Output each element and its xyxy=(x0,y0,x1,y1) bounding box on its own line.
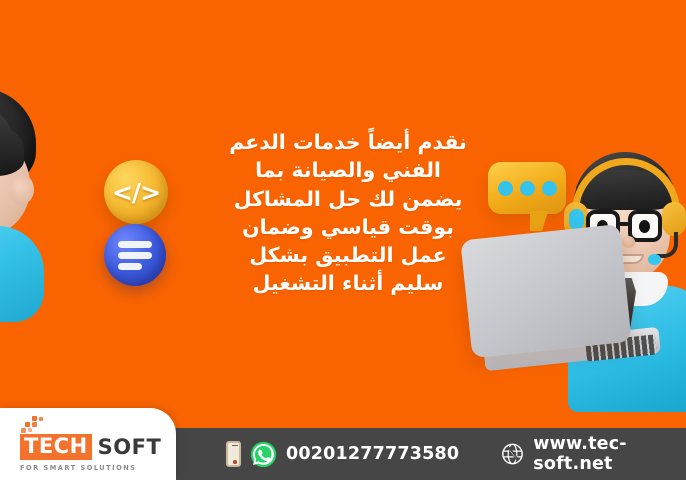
brand-logo[interactable]: TECH SOFT FOR SMART SOLUTIONS xyxy=(20,418,168,472)
torso-shape xyxy=(0,226,44,322)
banner-canvas: </> نقدم أيضاً خدمات الدعم الفني والصيان… xyxy=(0,0,686,480)
contact-phone[interactable]: 00201277773580 xyxy=(226,441,459,468)
bubble-dot xyxy=(520,181,535,196)
ear-shape xyxy=(10,174,34,204)
chat-bubble-icon xyxy=(488,162,566,214)
laptop-icon xyxy=(460,224,631,358)
headset-mic-tip-icon xyxy=(648,254,661,265)
headset-earcup-right-icon xyxy=(662,202,686,236)
brand-name-secondary: SOFT xyxy=(98,436,162,459)
globe-icon xyxy=(501,441,524,467)
footer-contacts: 00201277773580 www.tec-soft.net xyxy=(226,428,686,480)
mobile-phone-icon xyxy=(226,441,241,467)
headset-mic-arm-icon xyxy=(656,232,678,258)
pixel-squares-icon xyxy=(21,416,51,434)
headline-text: نقدم أيضاً خدمات الدعم الفني والصيانة بم… xyxy=(228,128,468,298)
brand-tagline: FOR SMART SOLUTIONS xyxy=(20,464,168,472)
nose-shape xyxy=(622,236,635,248)
website-url-text[interactable]: www.tec-soft.net xyxy=(533,434,686,474)
whatsapp-icon[interactable] xyxy=(250,441,277,468)
support-agent-character xyxy=(456,150,686,412)
bubble-dot xyxy=(542,181,557,196)
eyeglass-bridge xyxy=(619,222,629,226)
brand-name-primary: TECH xyxy=(20,434,92,460)
line-bar xyxy=(118,241,152,248)
line-bar xyxy=(118,252,152,259)
phone-number-text[interactable]: 00201277773580 xyxy=(286,444,459,464)
code-glyph: </> xyxy=(112,180,160,205)
brand-name-row: TECH SOFT xyxy=(20,434,168,460)
logo-panel[interactable]: TECH SOFT FOR SMART SOLUTIONS xyxy=(0,408,176,480)
contact-website[interactable]: www.tec-soft.net xyxy=(501,434,686,474)
bubble-dot xyxy=(498,181,513,196)
code-badge-icon: </> xyxy=(104,160,168,224)
document-lines-badge-icon xyxy=(104,224,166,286)
line-bar xyxy=(118,263,142,270)
eye-pupil-right xyxy=(639,220,650,233)
